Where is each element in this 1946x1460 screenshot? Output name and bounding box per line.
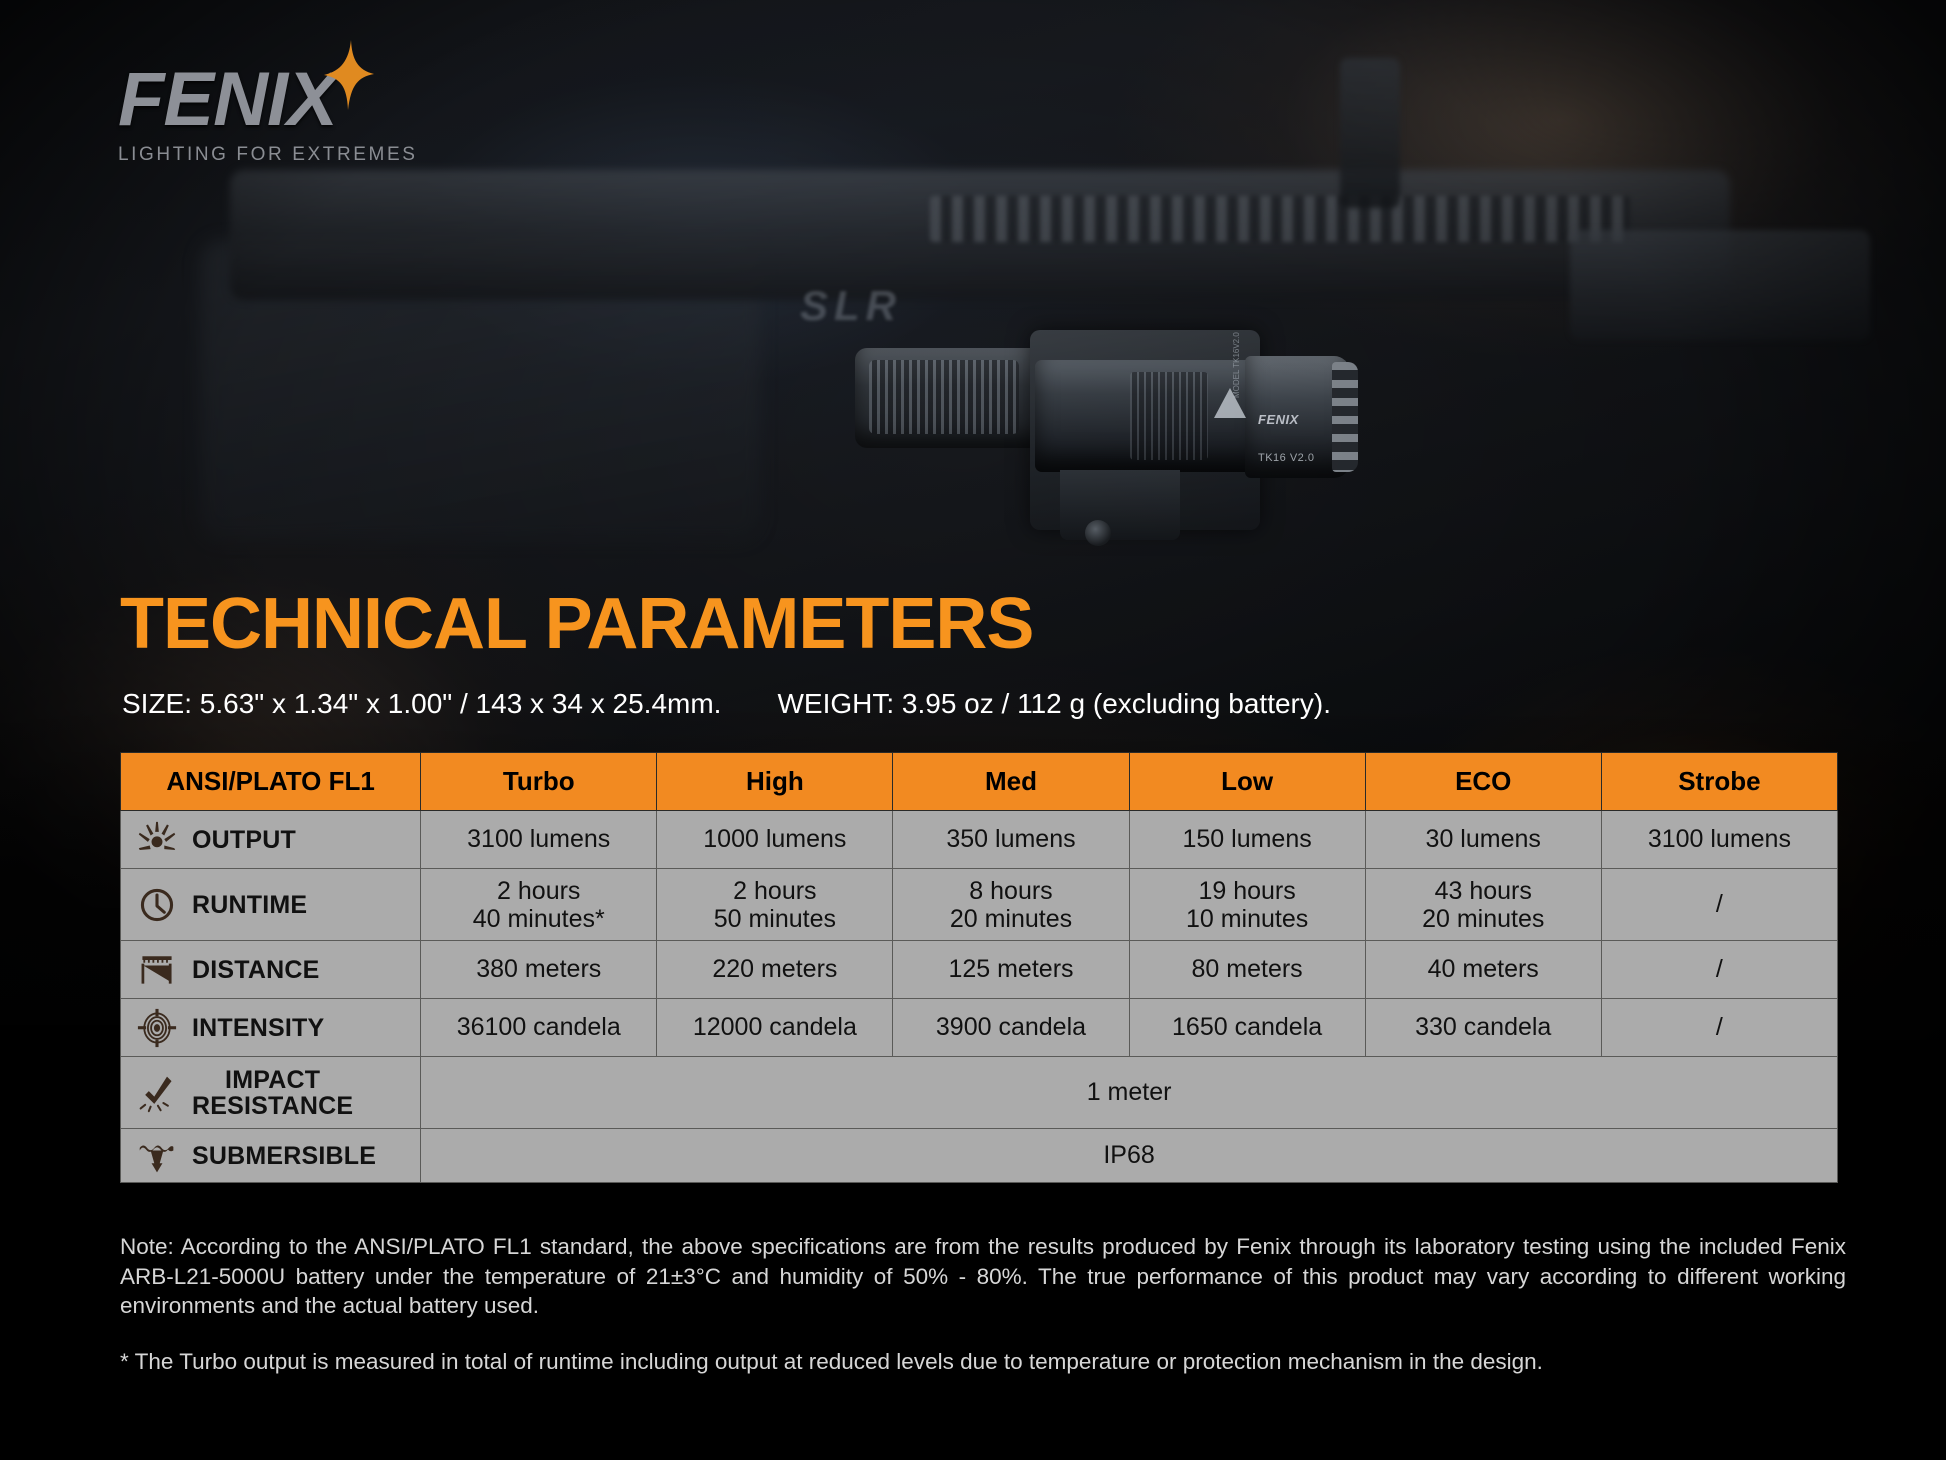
cell-output-low: 150 lumens: [1129, 811, 1365, 869]
page-title: TECHNICAL PARAMETERS: [120, 588, 1033, 660]
column-header-eco: ECO: [1365, 753, 1601, 811]
cell-output-eco: 30 lumens: [1365, 811, 1601, 869]
row-title-runtime: RUNTIME: [192, 892, 307, 918]
cell-distance-high: 220 meters: [657, 941, 893, 999]
target-intensity-icon: [135, 1006, 179, 1050]
impact-label-line1: IMPACT: [225, 1066, 320, 1094]
column-header-high: High: [657, 753, 893, 811]
impact-arrow-icon: [135, 1071, 179, 1115]
cell-runtime-med: 8 hours 20 minutes: [893, 869, 1129, 941]
cell-intensity-eco: 330 candela: [1365, 999, 1601, 1057]
cell-intensity-low: 1650 candela: [1129, 999, 1365, 1057]
cell-output-high: 1000 lumens: [657, 811, 893, 869]
column-header-standard: ANSI/PLATO FL1: [121, 753, 421, 811]
column-header-low: Low: [1129, 753, 1365, 811]
note-turbo-asterisk: * The Turbo output is measured in total …: [120, 1347, 1846, 1376]
clock-icon: [135, 883, 179, 927]
beam-distance-icon: [135, 948, 179, 992]
runtime-med-l2: 20 minutes: [893, 905, 1128, 933]
runtime-turbo-l2: 40 minutes*: [421, 905, 656, 933]
table-row-distance: DISTANCE 380 meters 220 meters 125 meter…: [121, 941, 1838, 999]
cell-submersible-value: IP68: [421, 1129, 1838, 1183]
row-label-distance: DISTANCE: [121, 941, 421, 999]
brand-logo: FENIX LIGHTING FOR EXTREMES: [118, 62, 418, 166]
row-title-output: OUTPUT: [192, 827, 296, 853]
row-title-distance: DISTANCE: [192, 957, 320, 983]
runtime-med-l1: 8 hours: [893, 877, 1128, 905]
cell-impact-resistance-value: 1 meter: [421, 1057, 1838, 1129]
row-title-intensity: INTENSITY: [192, 1015, 324, 1041]
table-row-impact-resistance: IMPACT RESISTANCE 1 meter: [121, 1057, 1838, 1129]
cell-runtime-eco: 43 hours 20 minutes: [1365, 869, 1601, 941]
page-root: SLR FENIX TK16 V2.0 MODEL TK16V2.0 FENIX…: [0, 0, 1946, 1460]
cell-output-turbo: 3100 lumens: [421, 811, 657, 869]
column-header-strobe: Strobe: [1601, 753, 1837, 811]
table-header-row: ANSI/PLATO FL1 Turbo High Med Low ECO St…: [121, 753, 1838, 811]
cell-distance-eco: 40 meters: [1365, 941, 1601, 999]
column-header-turbo: Turbo: [421, 753, 657, 811]
column-header-med: Med: [893, 753, 1129, 811]
cell-distance-strobe: /: [1601, 941, 1837, 999]
sunburst-icon: [135, 818, 179, 862]
table-row-intensity: INTENSITY 36100 candela 12000 candela 39…: [121, 999, 1838, 1057]
row-label-output: OUTPUT: [121, 811, 421, 869]
runtime-turbo-l1: 2 hours: [421, 877, 656, 905]
dimensions-line: SIZE: 5.63" x 1.34" x 1.00" / 143 x 34 x…: [122, 688, 1331, 720]
brand-tagline: LIGHTING FOR EXTREMES: [118, 144, 418, 166]
star-burst-icon: [318, 40, 374, 110]
row-label-submersible: SUBMERSIBLE: [121, 1129, 421, 1183]
runtime-low-l2: 10 minutes: [1130, 905, 1365, 933]
size-label: SIZE: 5.63" x 1.34" x 1.00" / 143 x 34 x…: [122, 688, 721, 719]
cell-runtime-low: 19 hours 10 minutes: [1129, 869, 1365, 941]
weight-label: WEIGHT: 3.95 oz / 112 g (excluding batte…: [777, 688, 1331, 719]
cell-intensity-med: 3900 candela: [893, 999, 1129, 1057]
left-black-panel: [0, 1025, 120, 1460]
row-label-impact-resistance: IMPACT RESISTANCE: [121, 1057, 421, 1129]
notes-section: Note: According to the ANSI/PLATO FL1 st…: [120, 1232, 1846, 1376]
row-title-submersible: SUBMERSIBLE: [192, 1143, 376, 1169]
cell-intensity-high: 12000 candela: [657, 999, 893, 1057]
runtime-eco-l1: 43 hours: [1366, 877, 1601, 905]
row-label-intensity: INTENSITY: [121, 999, 421, 1057]
note-standard-disclaimer: Note: According to the ANSI/PLATO FL1 st…: [120, 1232, 1846, 1321]
runtime-low-l1: 19 hours: [1130, 877, 1365, 905]
row-label-runtime: RUNTIME: [121, 869, 421, 941]
specifications-table: ANSI/PLATO FL1 Turbo High Med Low ECO St…: [120, 752, 1838, 1183]
cell-distance-med: 125 meters: [893, 941, 1129, 999]
runtime-eco-l2: 20 minutes: [1366, 905, 1601, 933]
cell-runtime-high: 2 hours 50 minutes: [657, 869, 893, 941]
table-row-runtime: RUNTIME 2 hours 40 minutes* 2 hours 50 m…: [121, 869, 1838, 941]
cell-runtime-turbo: 2 hours 40 minutes*: [421, 869, 657, 941]
cell-output-med: 350 lumens: [893, 811, 1129, 869]
submersible-waves-icon: [135, 1134, 179, 1178]
runtime-high-l2: 50 minutes: [657, 905, 892, 933]
cell-runtime-strobe: /: [1601, 869, 1837, 941]
row-title-impact-resistance: IMPACT RESISTANCE: [192, 1067, 353, 1119]
table-row-output: OUTPUT 3100 lumens 1000 lumens 350 lumen…: [121, 811, 1838, 869]
table-row-submersible: SUBMERSIBLE IP68: [121, 1129, 1838, 1183]
cell-output-strobe: 3100 lumens: [1601, 811, 1837, 869]
runtime-high-l1: 2 hours: [657, 877, 892, 905]
cell-intensity-strobe: /: [1601, 999, 1837, 1057]
cell-distance-turbo: 380 meters: [421, 941, 657, 999]
impact-label-line2: RESISTANCE: [192, 1092, 353, 1120]
cell-intensity-turbo: 36100 candela: [421, 999, 657, 1057]
cell-distance-low: 80 meters: [1129, 941, 1365, 999]
